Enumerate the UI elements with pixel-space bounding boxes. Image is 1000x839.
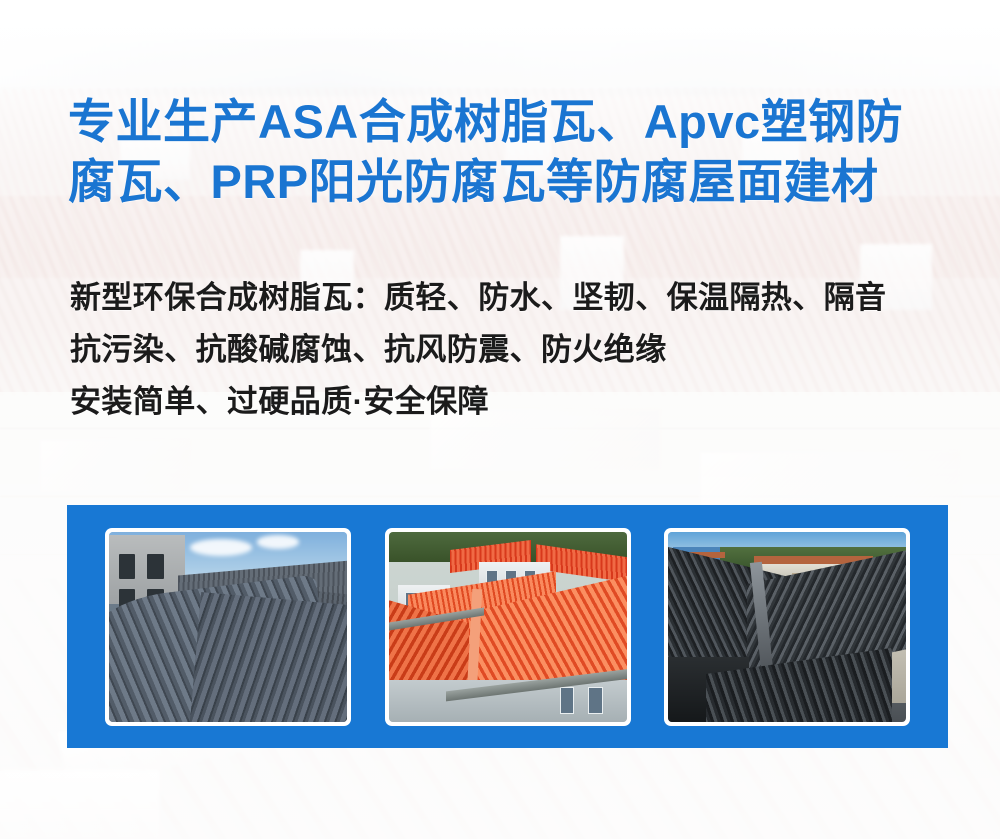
photo-frame-1 bbox=[105, 528, 351, 726]
cloud bbox=[257, 535, 300, 548]
red-resin-tile-roof-photo bbox=[389, 532, 627, 722]
window bbox=[119, 554, 136, 579]
cloud bbox=[190, 539, 252, 556]
window bbox=[147, 554, 164, 579]
headline: 专业生产ASA合成树脂瓦、Apvc塑钢防 腐瓦、PRP阳光防腐瓦等防腐屋面建材 bbox=[68, 92, 958, 212]
subheading-line-3: 安装简单、过硬品质·安全保障 bbox=[70, 376, 970, 428]
window bbox=[560, 687, 574, 714]
grey-tile-roof-slope bbox=[189, 592, 347, 721]
headline-line-1: 专业生产ASA合成树脂瓦、Apvc塑钢防 bbox=[68, 92, 958, 152]
subheading-line-2: 抗污染、抗酸碱腐蚀、抗风防震、防火绝缘 bbox=[70, 324, 970, 376]
window bbox=[588, 687, 602, 714]
black-resin-tile-roof-photo bbox=[668, 532, 906, 722]
photo-frame-3 bbox=[664, 528, 910, 726]
headline-line-2: 腐瓦、PRP阳光防腐瓦等防腐屋面建材 bbox=[68, 152, 958, 212]
grey-resin-tile-roof-photo bbox=[109, 532, 347, 722]
subheading-line-1: 新型环保合成树脂瓦：质轻、防水、坚韧、保温隔热、隔音 bbox=[70, 272, 970, 324]
photo-gallery-panel bbox=[67, 505, 948, 748]
subheading: 新型环保合成树脂瓦：质轻、防水、坚韧、保温隔热、隔音 抗污染、抗酸碱腐蚀、抗风防… bbox=[70, 272, 970, 428]
banner-content: 专业生产ASA合成树脂瓦、Apvc塑钢防 腐瓦、PRP阳光防腐瓦等防腐屋面建材 … bbox=[0, 0, 1000, 839]
photo-frame-2 bbox=[385, 528, 631, 726]
product-banner: 专业生产ASA合成树脂瓦、Apvc塑钢防 腐瓦、PRP阳光防腐瓦等防腐屋面建材 … bbox=[0, 0, 1000, 839]
